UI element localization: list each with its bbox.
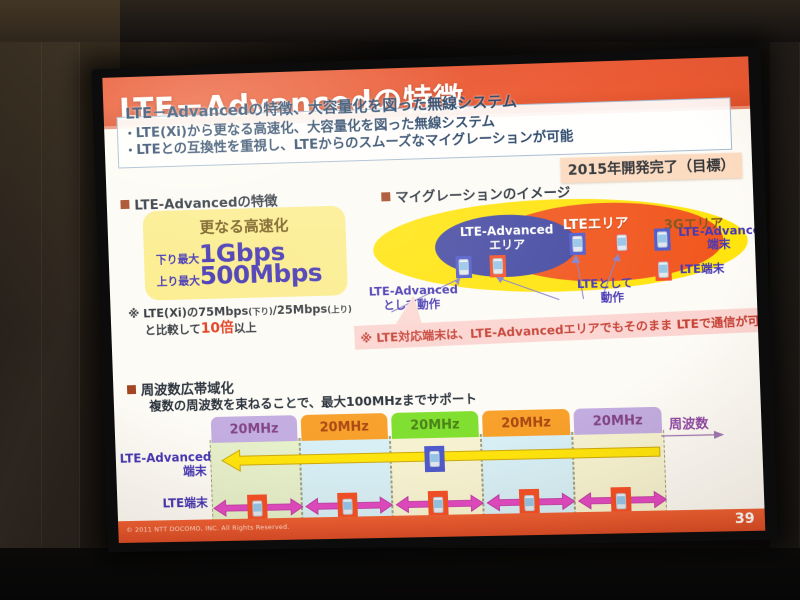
uplink-value: 500Mbps [199,258,322,290]
ceiling [0,0,800,42]
status-badge: 2015年開発完了（目標） [560,153,742,184]
row-label-lte-advanced-terminal: LTE-Advanced 端末 [119,450,206,480]
square-marker-icon [120,200,129,209]
phone-icon-advanced-aggregate [424,446,445,472]
floor [0,548,800,600]
phone-icon-blue [654,228,671,251]
legend-item-lte-advanced: LTE-Advanced 端末 [654,223,766,252]
slide: LTE－Advancedの特徴 LTE－Advancedの特徴、大容量化を図った… [102,56,765,543]
screenshot-root: LTE－Advancedの特徴 LTE－Advancedの特徴、大容量化を図った… [0,0,800,600]
wall-panel [0,42,42,562]
projection-screen: LTE－Advancedの特徴 LTE－Advancedの特徴、大容量化を図った… [91,47,778,552]
frequency-axis-arrow-icon [661,427,765,450]
screen-frame: LTE－Advancedの特徴 LTE－Advancedの特徴、大容量化を図った… [91,47,778,552]
legend-label-lte: LTE端末 [679,262,724,276]
legend: LTE-Advanced 端末 LTE端末 [654,223,766,287]
speed-box-heading: 更なる高速化 [143,212,346,239]
square-marker-icon [127,385,136,394]
legend-label-lte-advanced: LTE-Advanced 端末 [678,223,765,252]
emphasis-10x: 10倍 [201,320,235,337]
row-label-lte-terminal: LTE端末 [121,496,208,512]
legend-item-lte: LTE端末 [655,256,765,281]
uplink-speed-row: 上り最大500Mbps [156,257,360,291]
wall-panel [42,42,80,562]
page-number: 39 [735,511,755,528]
speed-highlight-box: 更なる高速化 下り最大1Gbps 上り最大500Mbps [142,205,348,300]
copyright-text: © 2011 NTT DOCOMO, INC. All Rights Reser… [126,523,290,534]
callout-lte-operation: LTEとして 動作 [577,276,634,306]
phone-icon-red [655,258,672,281]
bullet-dot: ・ [124,143,136,157]
uplink-label: 上り最大 [156,274,200,288]
comparison-note: ※ LTE(Xi)の75Mbps(下り)/25Mbps(上り) と比較して10倍… [128,300,376,338]
bullet-dot: ・ [124,126,136,140]
